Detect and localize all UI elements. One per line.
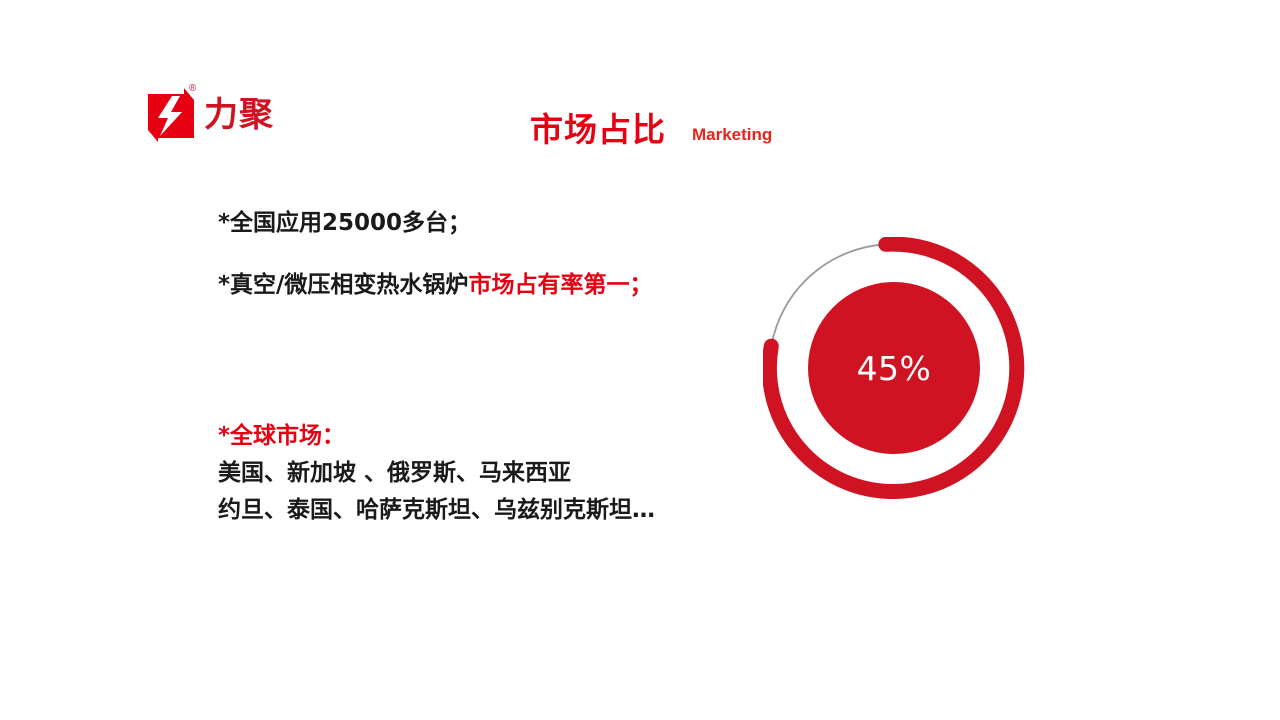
bullet-nationwide-text: *全国应用25000多台； [218,210,471,236]
slide-canvas: ® 力聚 市场占比 Marketing *全国应用25000多台； *真空/微压… [0,0,1280,720]
bullet-nationwide: *全国应用25000多台； [218,206,688,240]
donut-inner-disc [808,282,980,454]
page-title-row: 市场占比 Marketing [530,110,772,150]
global-market-line-1: 美国、新加坡 、俄罗斯、马来西亚 [218,455,758,492]
liju-lightning-mark-icon: ® [148,88,198,142]
global-market-heading: *全球市场： [218,418,758,455]
page-subtitle: Marketing [692,125,772,145]
bullet-market-share-text: *真空/微压相变热水锅炉 [218,272,468,298]
market-share-donut-chart: 45% [763,237,1025,499]
bullet-market-share: *真空/微压相变热水锅炉市场占有率第一； [178,268,688,302]
global-market-block: *全球市场： 美国、新加坡 、俄罗斯、马来西亚 约旦、泰国、哈萨克斯坦、乌兹别克… [218,418,758,529]
registered-trademark-icon: ® [189,84,196,94]
page-title: 市场占比 [530,110,666,150]
brand-wordmark: 力聚 [204,97,274,133]
bullet-list: *全国应用25000多台； *真空/微压相变热水锅炉市场占有率第一； [218,206,688,302]
brand-logo: ® 力聚 [148,88,274,142]
bullet-market-share-highlight: 市场占有率第一； [468,272,652,298]
global-market-line-2: 约旦、泰国、哈萨克斯坦、乌兹别克斯坦… [218,492,758,529]
